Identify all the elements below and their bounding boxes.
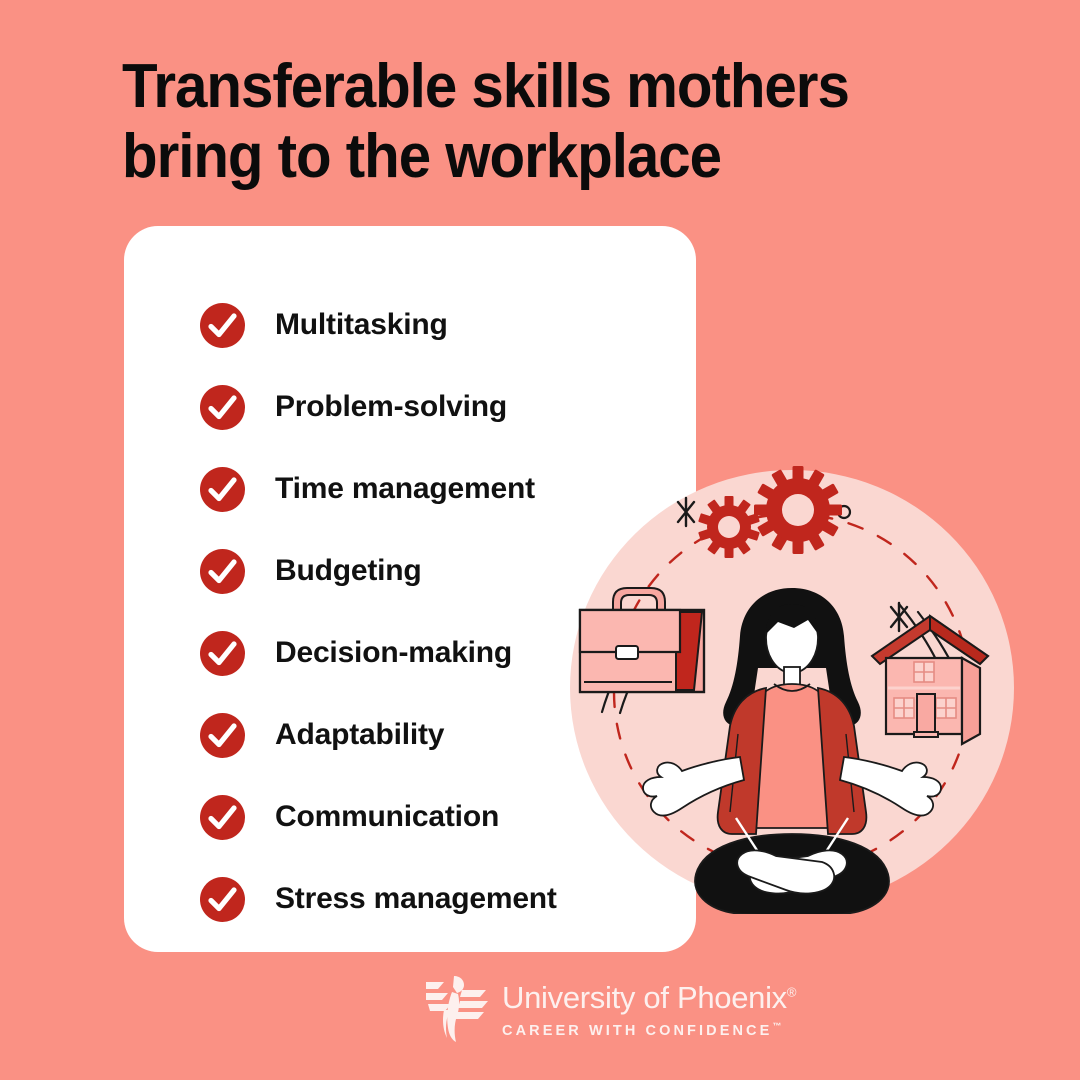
logo-tagline: CAREER WITH CONFIDENCE™	[502, 1022, 796, 1038]
phoenix-bird-icon	[424, 972, 490, 1049]
check-circle-icon	[200, 877, 245, 922]
check-circle-icon	[200, 795, 245, 840]
list-item-label: Problem-solving	[275, 390, 507, 424]
logo-text-block: University of Phoenix® CAREER WITH CONFI…	[502, 982, 796, 1038]
check-circle-icon	[200, 467, 245, 512]
check-circle-icon	[200, 549, 245, 594]
list-item: Stress management	[200, 858, 720, 940]
check-circle-icon	[200, 303, 245, 348]
list-item-label: Stress management	[275, 882, 557, 916]
skills-checklist: Multitasking Problem-solving Time manage…	[200, 284, 720, 940]
check-circle-icon	[200, 385, 245, 430]
list-item: Problem-solving	[200, 366, 720, 448]
check-circle-icon	[200, 713, 245, 758]
page-title: Transferable skills mothers bring to the…	[122, 52, 921, 192]
list-item: Adaptability	[200, 694, 720, 776]
list-item-label: Decision-making	[275, 636, 512, 670]
poster-canvas: Transferable skills mothers bring to the…	[0, 0, 1080, 1080]
list-item: Decision-making	[200, 612, 720, 694]
logo-wordmark: University of Phoenix®	[502, 982, 796, 1013]
list-item-label: Multitasking	[275, 308, 448, 342]
list-item: Communication	[200, 776, 720, 858]
list-item-label: Time management	[275, 472, 535, 506]
brand-logo: University of Phoenix® CAREER WITH CONFI…	[424, 972, 796, 1049]
list-item: Time management	[200, 448, 720, 530]
registered-mark: ®	[787, 985, 796, 1000]
trademark-mark: ™	[772, 1021, 781, 1031]
check-circle-icon	[200, 631, 245, 676]
list-item: Multitasking	[200, 284, 720, 366]
list-item-label: Budgeting	[275, 554, 422, 588]
list-item-label: Adaptability	[275, 718, 444, 752]
list-item-label: Communication	[275, 800, 499, 834]
list-item: Budgeting	[200, 530, 720, 612]
